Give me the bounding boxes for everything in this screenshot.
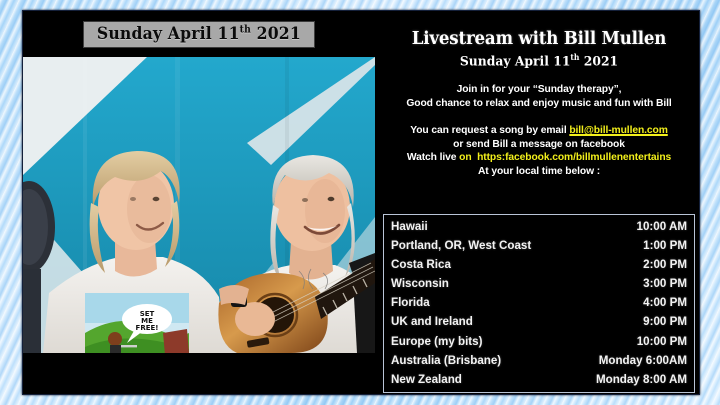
row-time: Monday 8:00 AM	[596, 370, 687, 389]
date-banner-text: Sunday April 11	[97, 24, 240, 44]
panel-title: Livestream with Bill Mullen	[387, 29, 691, 49]
livestream-photo: SET ME FREE!	[23, 57, 375, 353]
row-time: 10:00 AM	[637, 217, 687, 236]
panel-subtitle: Sunday April 11th 2021	[387, 52, 691, 69]
photo-column: Sunday April 11th 2021	[23, 11, 375, 394]
table-row: Portland, OR, West Coast 1:00 PM	[384, 236, 694, 255]
watch-live-line: Watch live on https:facebook.com/billmul…	[379, 151, 699, 165]
photo-illustration: SET ME FREE!	[23, 57, 375, 353]
row-time: 4:00 PM	[643, 293, 687, 312]
table-row: New Zealand Monday 8:00 AM	[384, 370, 694, 389]
request-song-line: You can request a song by email bill@bil…	[379, 124, 699, 138]
row-place: Europe (my bits)	[391, 332, 482, 351]
date-banner: Sunday April 11th 2021	[83, 21, 315, 48]
intro-line-1: Join in for your “Sunday therapy”,	[379, 83, 699, 97]
row-time: 2:00 PM	[643, 255, 687, 274]
svg-text:FREE!: FREE!	[136, 324, 159, 332]
watch-live-prefix: Watch live	[407, 152, 459, 163]
local-time-note: At your local time below :	[379, 165, 699, 179]
facebook-message-line: or send Bill a message on facebook	[379, 138, 699, 152]
request-song-prefix: You can request a song by email	[410, 125, 569, 136]
intro-line-2: Good chance to relax and enjoy music and…	[379, 97, 699, 111]
watch-live-on: on	[459, 152, 471, 163]
row-time: 3:00 PM	[643, 274, 687, 293]
row-place: Costa Rica	[391, 255, 451, 274]
table-row: Florida 4:00 PM	[384, 293, 694, 312]
poster-canvas: Sunday April 11th 2021	[0, 0, 720, 405]
local-times-table: Hawaii 10:00 AM Portland, OR, West Coast…	[383, 214, 695, 393]
row-place: New Zealand	[391, 370, 462, 389]
info-panel: Livestream with Bill Mullen Sunday April…	[379, 11, 699, 394]
table-row: UK and Ireland 9:00 PM	[384, 312, 694, 331]
row-place: Florida	[391, 293, 430, 312]
table-row: Europe (my bits) 10:00 PM	[384, 332, 694, 351]
table-row: Hawaii 10:00 AM	[384, 217, 694, 236]
row-time: 1:00 PM	[643, 236, 687, 255]
row-place: Australia (Brisbane)	[391, 351, 501, 370]
panel-subtitle-prefix: Sunday April 11	[460, 54, 571, 69]
row-time: Monday 6:00AM	[599, 351, 687, 370]
date-banner-ordinal: th	[240, 24, 251, 35]
intro-paragraph: Join in for your “Sunday therapy”, Good …	[379, 83, 699, 110]
panel-subtitle-ordinal: th	[570, 52, 579, 62]
table-row: Costa Rica 2:00 PM	[384, 255, 694, 274]
table-row: Wisconsin 3:00 PM	[384, 274, 694, 293]
email-link[interactable]: bill@bill-mullen.com	[569, 125, 667, 136]
row-time: 9:00 PM	[643, 312, 687, 331]
table-row: Australia (Brisbane) Monday 6:00AM	[384, 351, 694, 370]
date-banner-year: 2021	[251, 24, 301, 44]
contact-paragraph: You can request a song by email bill@bil…	[379, 124, 699, 178]
poster-stage: Sunday April 11th 2021	[22, 10, 700, 395]
facebook-url-link[interactable]: https:facebook.com/billmullenentertains	[472, 152, 672, 163]
date-banner-area: Sunday April 11th 2021	[23, 11, 375, 57]
row-time: 10:00 PM	[637, 332, 687, 351]
panel-subtitle-year: 2021	[579, 54, 618, 69]
row-place: Hawaii	[391, 217, 428, 236]
facebook-url-text: https:facebook.com/billmullenentertains	[477, 152, 671, 163]
row-place: Portland, OR, West Coast	[391, 236, 531, 255]
row-place: UK and Ireland	[391, 312, 473, 331]
row-place: Wisconsin	[391, 274, 449, 293]
